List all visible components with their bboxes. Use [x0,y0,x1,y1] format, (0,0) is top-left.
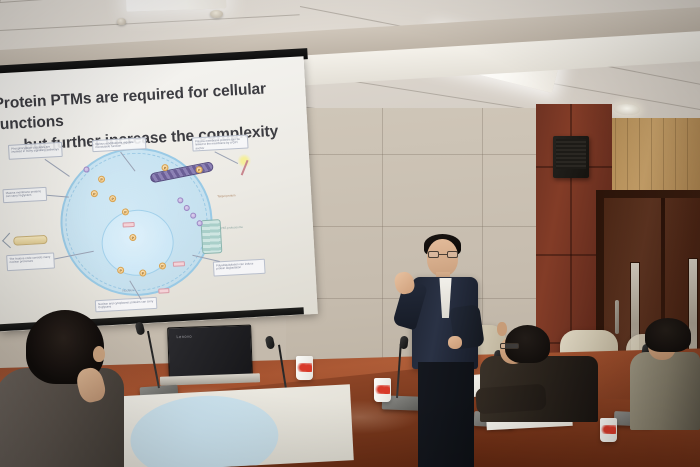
label-target-protein: Target protein [215,192,243,203]
speaker-grille-icon [556,139,586,169]
n-glycan-protein-glyph [13,235,47,246]
paper-cup[interactable] [296,356,313,380]
annotation-histone-code: The histone code controls many nuclear p… [6,252,55,271]
annotation-n-glycan: Plasma membrane proteins can carry N-gly… [2,187,47,203]
annotation-phosphorylation: Phosphorylation cascades are involved in… [8,142,63,160]
foreground-attendee-ear [93,346,105,362]
door-push-bar[interactable] [615,300,619,334]
annotation-polyubiquitylation: Polyubiquitylation can induce protein de… [213,259,266,277]
seated-attendee-right-hair [645,318,691,352]
gpi-anchor-glyph [237,153,252,168]
smoke-detector-icon [210,10,223,18]
sprinkler-head [117,18,126,25]
label-proteasome: 26S proteasome [219,224,249,235]
annotation-gpi-anchor: Plasma membrane proteins can be linked t… [192,134,249,151]
eyeglasses-icon [500,343,519,349]
label-nucleus: Nucleus [120,285,146,293]
presenter-lower-hand [448,336,462,349]
wall-speaker [553,136,589,178]
modification-tag [173,261,185,267]
n-glycan-branch-icon [2,233,18,249]
meeting-room-scene: Protein PTMs are required for cellular f… [0,0,700,467]
partial-attendee-head [497,322,507,336]
seated-attendee-right-torso [630,352,700,430]
modification-tag [123,222,135,228]
slide-diagram: Phosphorylation cascades are involved in… [0,129,299,321]
paper-cup[interactable] [374,378,391,402]
handout-cell-diagram [128,392,280,467]
annotation-o-glycan: Nuclear and cytoplasmic proteins can car… [95,297,158,312]
eyeglasses-icon [428,251,458,258]
presenter-legs [418,362,474,467]
paper-cup[interactable] [600,418,617,442]
laptop-brand-label: Lenovo [176,334,192,340]
seated-attendee-center-arm [475,384,547,415]
modification-tag [158,288,169,294]
laptop[interactable]: Lenovo [167,325,253,380]
projector-screen: Protein PTMs are required for cellular f… [0,56,318,331]
